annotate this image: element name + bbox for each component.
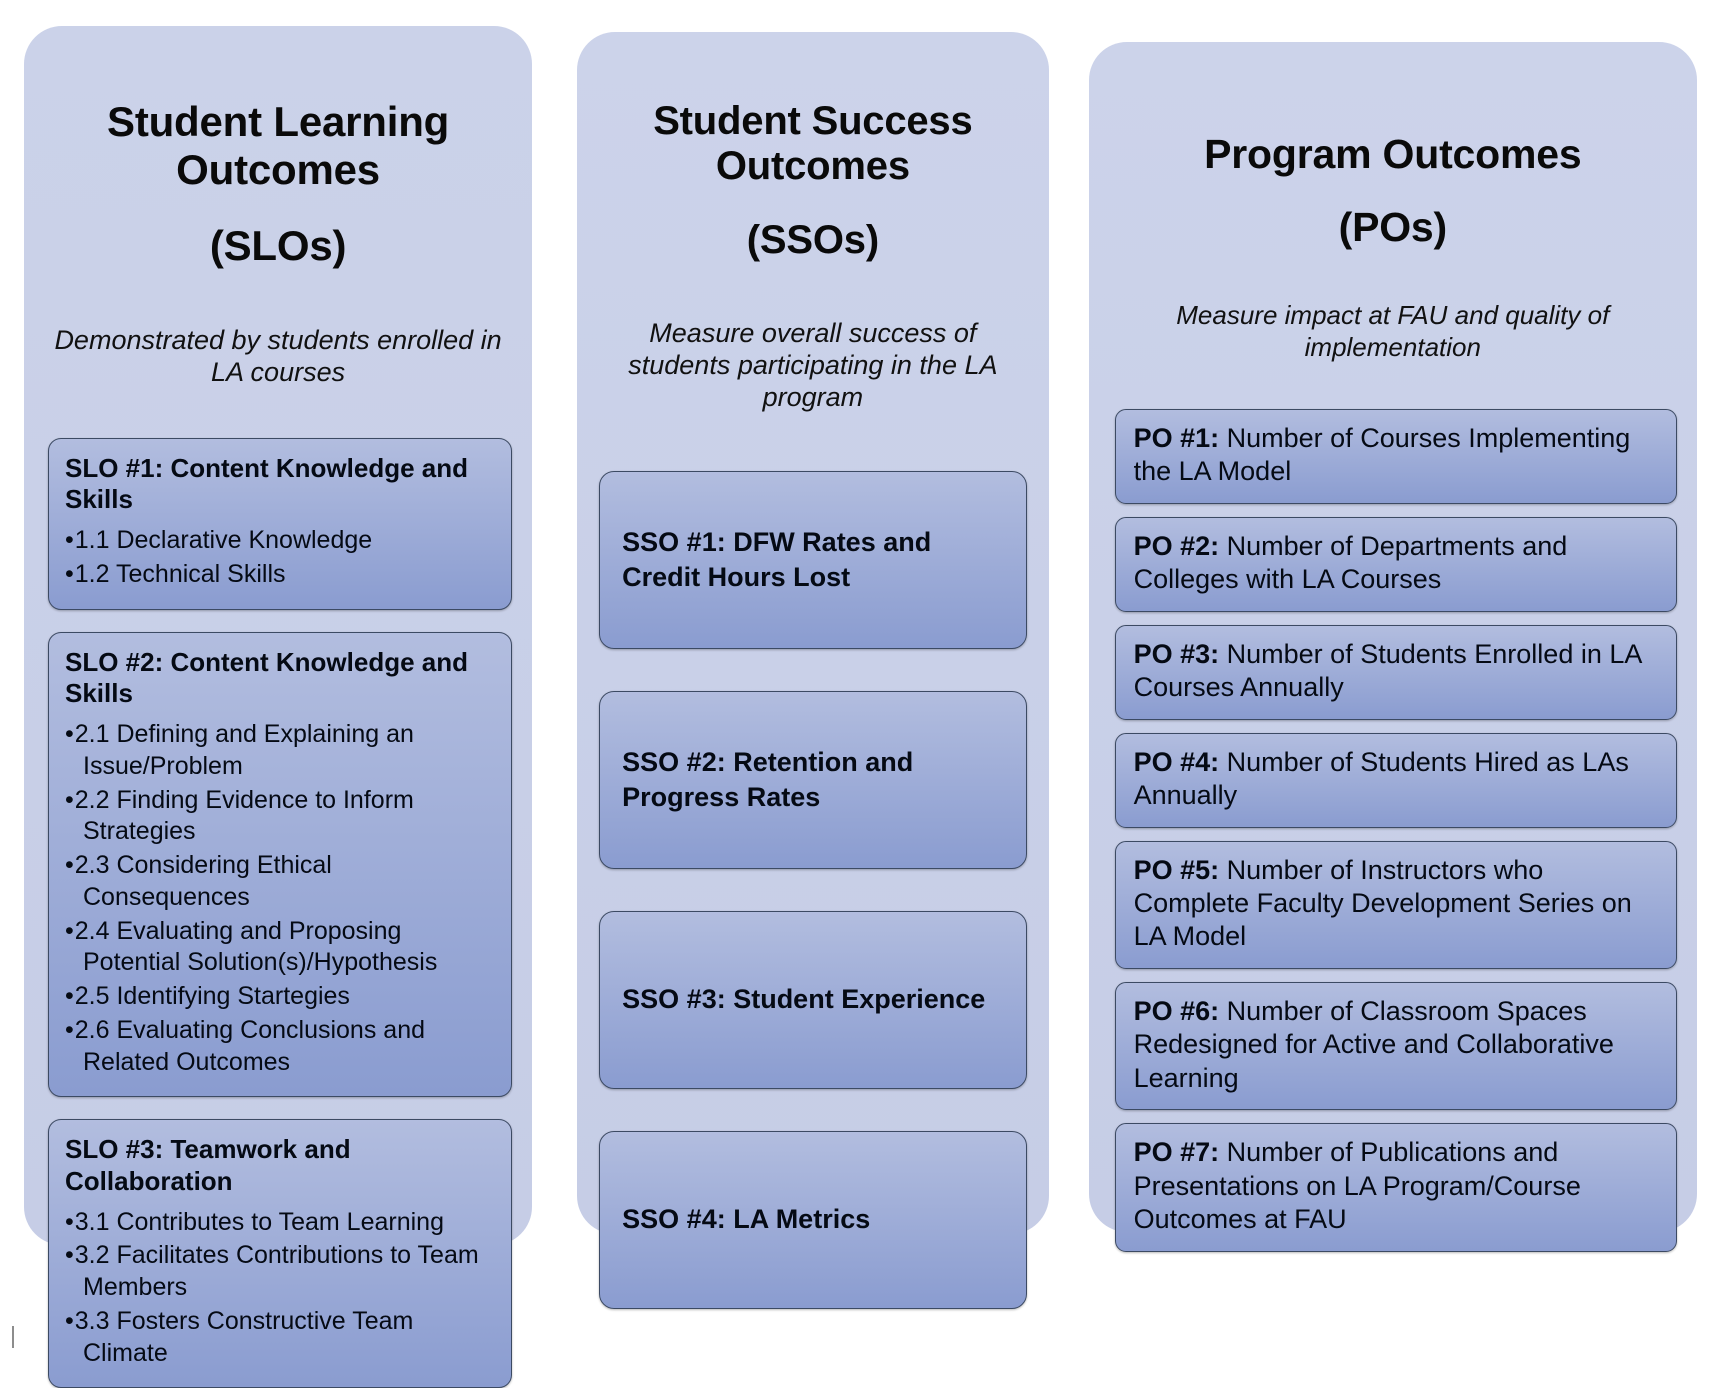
slo-item: •2.2 Finding Evidence to Inform Strategi… [65, 785, 495, 849]
sso-card-1-title: SSO #1: DFW Rates and Credit Hours Lost [622, 525, 1003, 595]
sso-heading-abbr: (SSOs) [607, 218, 1018, 264]
sso-card-3-title: SSO #3: Student Experience [622, 982, 985, 1017]
bullet-icon: • [65, 1241, 75, 1269]
bullet-icon: • [65, 1016, 75, 1044]
slo-item: •2.3 Considering Ethical Consequences [65, 850, 495, 914]
slo-card-2[interactable]: SLO #2: Content Knowledge and Skills •2.… [48, 632, 512, 1098]
slo-item: •2.4 Evaluating and Proposing Potential … [65, 916, 495, 980]
slo-item: •1.2 Technical Skills [65, 559, 495, 591]
po-card-7[interactable]: PO #7: Number of Publications and Presen… [1115, 1123, 1677, 1251]
po-card-5-label: PO #5: [1134, 855, 1220, 885]
slo-card-2-items: •2.1 Defining and Explaining an Issue/Pr… [65, 719, 495, 1078]
po-card-1-label: PO #1: [1134, 423, 1220, 453]
slo-card-3[interactable]: SLO #3: Teamwork and Collaboration •3.1 … [48, 1119, 512, 1388]
bullet-icon: • [65, 526, 75, 554]
po-card-2[interactable]: PO #2: Number of Departments and College… [1115, 517, 1677, 612]
slo-card-1-title: SLO #1: Content Knowledge and Skills [65, 453, 495, 516]
po-card-6-text: PO #6: Number of Classroom Spaces Redesi… [1134, 995, 1660, 1095]
po-card-5[interactable]: PO #5: Number of Instructors who Complet… [1115, 841, 1677, 969]
slo-item-text: 2.2 Finding Evidence to Inform Strategie… [75, 786, 414, 846]
po-card-6-label: PO #6: [1134, 996, 1220, 1026]
slo-item-text: 3.1 Contributes to Team Learning [75, 1208, 444, 1236]
slo-item-text: 3.2 Facilitates Contributions to Team Me… [75, 1241, 479, 1301]
po-card-4[interactable]: PO #4: Number of Students Hired as LAs A… [1115, 733, 1677, 828]
po-card-7-text: PO #7: Number of Publications and Presen… [1134, 1136, 1660, 1236]
slo-column-subtitle: Demonstrated by students enrolled in LA … [24, 298, 532, 389]
bullet-icon: • [65, 1208, 75, 1236]
column-program-outcomes: Program Outcomes (POs) Measure impact at… [1089, 42, 1697, 1232]
slo-item-text: 2.5 Identifying Startegies [75, 982, 350, 1010]
po-card-6[interactable]: PO #6: Number of Classroom Spaces Redesi… [1115, 982, 1677, 1110]
sso-heading-line2: Outcomes [716, 144, 910, 188]
bullet-icon: • [65, 982, 75, 1010]
slo-card-2-title: SLO #2: Content Knowledge and Skills [65, 647, 495, 710]
sso-card-list: SSO #1: DFW Rates and Credit Hours Lost … [577, 441, 1048, 1309]
slo-item: •3.3 Fosters Constructive Team Climate [65, 1306, 495, 1370]
column-student-success-outcomes: Student Success Outcomes (SSOs) Measure … [577, 32, 1048, 1234]
slo-item-text: 3.3 Fosters Constructive Team Climate [75, 1307, 414, 1367]
bullet-icon: • [65, 1307, 75, 1335]
bullet-icon: • [65, 720, 75, 748]
po-card-list: PO #1: Number of Courses Implementing th… [1089, 389, 1697, 1252]
slo-item: •3.1 Contributes to Team Learning [65, 1207, 495, 1239]
po-card-4-label: PO #4: [1134, 747, 1220, 777]
bullet-icon: • [65, 560, 75, 588]
po-card-1[interactable]: PO #1: Number of Courses Implementing th… [1115, 409, 1677, 504]
slo-item: •2.5 Identifying Startegies [65, 981, 495, 1013]
slo-card-1-items: •1.1 Declarative Knowledge •1.2 Technica… [65, 525, 495, 591]
sso-column-heading: Student Success Outcomes (SSOs) [577, 59, 1048, 264]
sso-heading-line1: Student Success [653, 99, 972, 143]
slo-item-text: 2.6 Evaluating Conclusions and Related O… [75, 1016, 425, 1076]
sso-card-2[interactable]: SSO #2: Retention and Progress Rates [599, 691, 1026, 869]
po-card-7-label: PO #7: [1134, 1137, 1220, 1167]
slo-heading-line1: Student Learning [107, 98, 449, 145]
slo-item: •2.6 Evaluating Conclusions and Related … [65, 1015, 495, 1079]
slo-item-text: 1.2 Technical Skills [75, 560, 286, 588]
po-heading-abbr: (POs) [1115, 204, 1671, 251]
po-card-3-text: PO #3: Number of Students Enrolled in LA… [1134, 638, 1660, 705]
slo-heading-abbr: (SLOs) [54, 222, 502, 270]
outcomes-diagram: Student Learning Outcomes (SLOs) Demonst… [0, 0, 1715, 1366]
slo-item-text: 1.1 Declarative Knowledge [75, 526, 372, 554]
slo-item-text: 2.3 Considering Ethical Consequences [75, 851, 332, 911]
po-card-2-text: PO #2: Number of Departments and College… [1134, 530, 1660, 597]
slo-card-list: SLO #1: Content Knowledge and Skills •1.… [24, 416, 532, 1388]
slo-card-1[interactable]: SLO #1: Content Knowledge and Skills •1.… [48, 438, 512, 610]
column-student-learning-outcomes: Student Learning Outcomes (SLOs) Demonst… [24, 26, 532, 1245]
slide-corner-mark [12, 1326, 14, 1348]
po-column-subtitle: Measure impact at FAU and quality of imp… [1089, 278, 1697, 362]
sso-card-2-title: SSO #2: Retention and Progress Rates [622, 745, 1003, 815]
bullet-icon: • [65, 786, 75, 814]
po-card-5-text: PO #5: Number of Instructors who Complet… [1134, 854, 1660, 954]
slo-card-3-items: •3.1 Contributes to Team Learning •3.2 F… [65, 1207, 495, 1370]
sso-card-1[interactable]: SSO #1: DFW Rates and Credit Hours Lost [599, 471, 1026, 649]
bullet-icon: • [65, 851, 75, 879]
slo-item: •3.2 Facilitates Contributions to Team M… [65, 1240, 495, 1304]
po-column-heading: Program Outcomes (POs) [1089, 69, 1697, 250]
po-heading-line1: Program Outcomes [1204, 131, 1581, 177]
slo-item: •1.1 Declarative Knowledge [65, 525, 495, 557]
bullet-icon: • [65, 917, 75, 945]
sso-card-3[interactable]: SSO #3: Student Experience [599, 911, 1026, 1089]
slo-item-text: 2.4 Evaluating and Proposing Potential S… [75, 917, 438, 977]
sso-card-4[interactable]: SSO #4: LA Metrics [599, 1131, 1026, 1309]
po-card-4-text: PO #4: Number of Students Hired as LAs A… [1134, 746, 1660, 813]
slo-column-heading: Student Learning Outcomes (SLOs) [24, 54, 532, 270]
slo-card-3-title: SLO #3: Teamwork and Collaboration [65, 1134, 495, 1197]
sso-column-subtitle: Measure overall success of students part… [577, 291, 1048, 414]
slo-item: •2.1 Defining and Explaining an Issue/Pr… [65, 719, 495, 783]
sso-card-4-title: SSO #4: LA Metrics [622, 1202, 870, 1237]
slo-item-text: 2.1 Defining and Explaining an Issue/Pro… [75, 720, 414, 780]
slo-heading-line2: Outcomes [176, 146, 380, 193]
po-card-3-label: PO #3: [1134, 639, 1220, 669]
po-card-1-text: PO #1: Number of Courses Implementing th… [1134, 422, 1660, 489]
po-card-3[interactable]: PO #3: Number of Students Enrolled in LA… [1115, 625, 1677, 720]
po-card-2-label: PO #2: [1134, 531, 1220, 561]
